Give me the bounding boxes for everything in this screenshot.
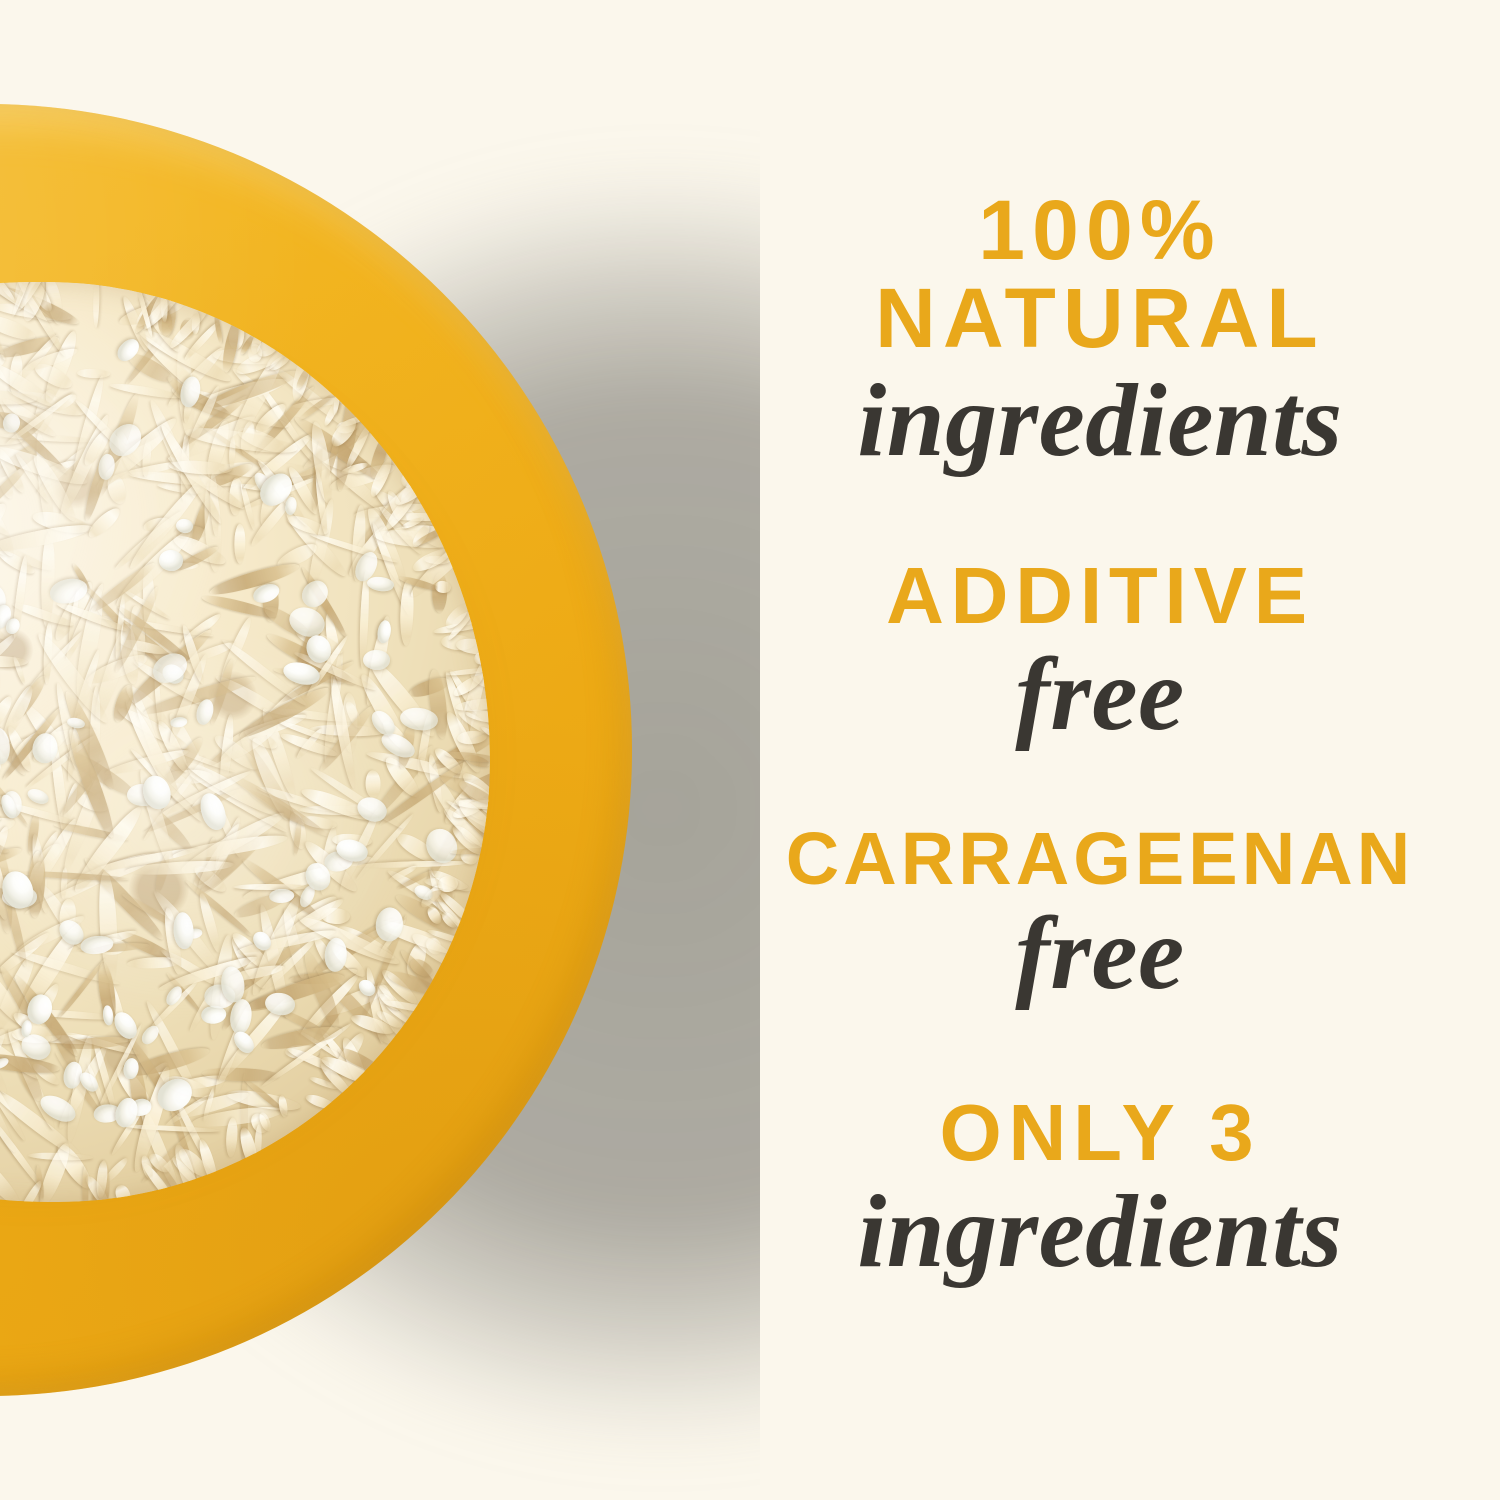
claim-only-3-ingredients: ONLY 3 ingredients xyxy=(700,1092,1500,1284)
claim-carrageenan-script: free xyxy=(700,902,1500,1006)
claim-natural-script: ingredients xyxy=(700,369,1500,473)
claim-only3-line1: ONLY 3 xyxy=(700,1092,1500,1174)
product-photo xyxy=(0,0,760,1500)
rice-grain xyxy=(376,620,392,644)
claim-additive-script: free xyxy=(700,643,1500,747)
claim-only3-script: ingredients xyxy=(700,1180,1500,1284)
chicken-shred-edge-tuft xyxy=(304,1092,337,1111)
claims-column: 100% NATURAL ingredients ADDITIVE free C… xyxy=(700,0,1500,1500)
rice-grain xyxy=(170,716,189,729)
claim-natural-line2: NATURAL xyxy=(700,276,1500,362)
claim-additive-free: ADDITIVE free xyxy=(700,555,1500,747)
claim-carrageenan-line1: CARRAGEENAN xyxy=(700,821,1500,896)
product-feature-graphic: 100% NATURAL ingredients ADDITIVE free C… xyxy=(0,0,1500,1500)
rice-grain xyxy=(363,650,390,671)
chicken-shred-edge-tuft xyxy=(93,282,100,328)
chicken-shred xyxy=(77,368,110,378)
claim-carrageenan-free: CARRAGEENAN free xyxy=(700,821,1500,1006)
chicken-shred xyxy=(234,524,245,564)
claim-additive-line1: ADDITIVE xyxy=(700,555,1500,637)
chicken-shred xyxy=(365,770,381,799)
chicken-shred xyxy=(0,656,28,668)
chicken-shred-edge-tuft xyxy=(191,312,200,336)
rice-grain xyxy=(25,786,51,807)
claim-natural-line1: 100% xyxy=(700,188,1500,274)
claim-100-natural-ingredients: 100% NATURAL ingredients xyxy=(700,188,1500,473)
